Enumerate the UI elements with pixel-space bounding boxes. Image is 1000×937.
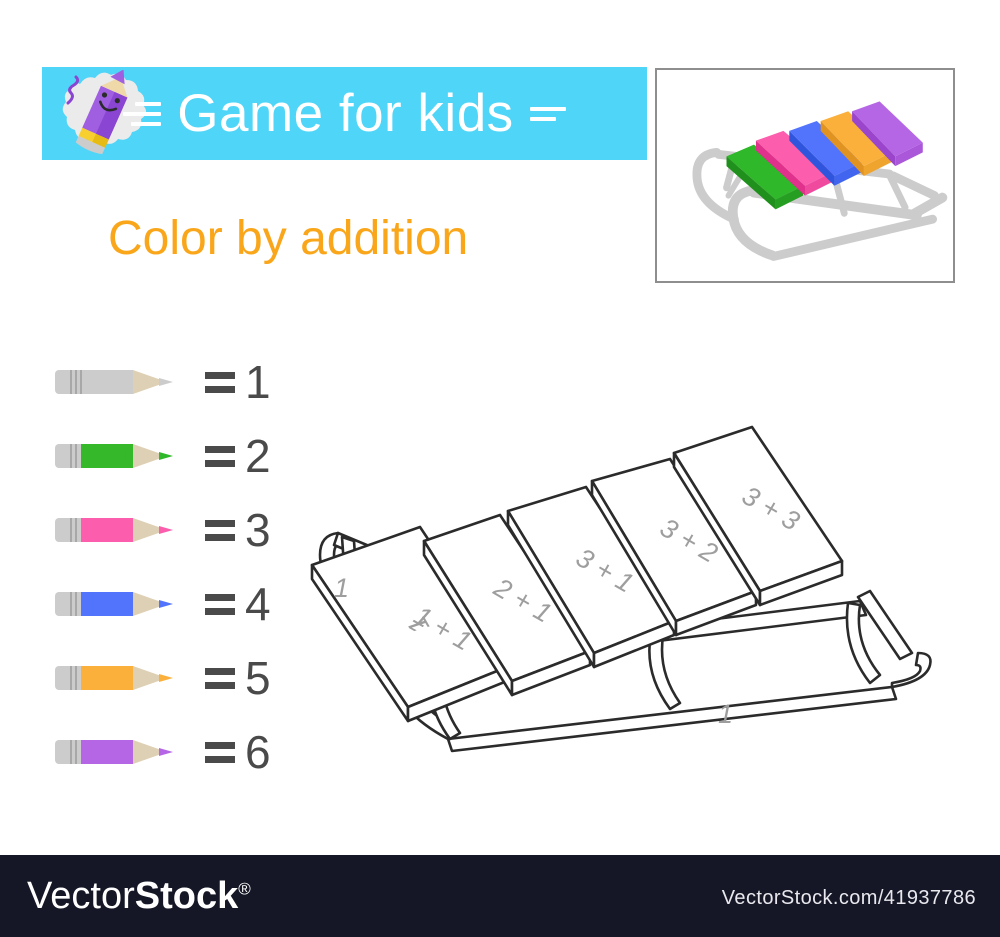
pencil-pink-icon: [55, 510, 183, 550]
legend-item: 2: [55, 419, 271, 493]
legend-equals-group: 5: [205, 655, 271, 701]
legend-equals-group: 1: [205, 359, 271, 405]
pencil-gray-icon: [55, 362, 183, 402]
legend-equals-group: 3: [205, 507, 271, 553]
watermark-footer: VectorStock® VectorStock.com/41937786: [0, 855, 1000, 937]
pencil-purple-icon: [55, 732, 183, 772]
legend-value: 4: [245, 581, 271, 627]
pencil-green-icon: [55, 436, 183, 476]
legend-item: 3: [55, 493, 271, 567]
legend-item: 5: [55, 641, 271, 715]
equals-icon: [205, 594, 235, 615]
legend-value: 3: [245, 507, 271, 553]
sled-coloring-outline: 1 + 1 2 + 1 3 + 1 3 + 2 3 + 3 1 1 1: [300, 405, 970, 800]
equals-icon: [205, 668, 235, 689]
legend-equals-group: 2: [205, 433, 271, 479]
speed-lines-icon: [530, 107, 566, 121]
legend-value: 2: [245, 433, 271, 479]
worksheet-page: Game for kids Color by addition: [0, 0, 1000, 937]
legend-item: 4: [55, 567, 271, 641]
logo-light-text: Vector: [27, 875, 135, 917]
legend-value: 6: [245, 729, 271, 775]
registered-mark-icon: ®: [238, 879, 251, 898]
logo-bold-text: Stock: [135, 875, 238, 917]
page-subtitle: Color by addition: [108, 215, 468, 263]
watermark-url: VectorStock.com/41937786: [722, 887, 976, 910]
equals-icon: [205, 372, 235, 393]
equals-icon: [205, 446, 235, 467]
frame-label: 1: [718, 699, 733, 729]
pencil-color-key: 1 2: [55, 345, 271, 789]
pencil-blue-icon: [55, 584, 183, 624]
colored-sled-reference: [655, 68, 955, 283]
legend-item: 6: [55, 715, 271, 789]
banner-title-row: Game for kids: [42, 67, 647, 160]
page-title: Game for kids: [177, 87, 513, 140]
speed-lines-icon: [123, 102, 161, 126]
pencil-orange-icon: [55, 658, 183, 698]
title-banner: Game for kids: [42, 67, 647, 160]
equals-icon: [205, 742, 235, 763]
legend-item: 1: [55, 345, 271, 419]
equals-icon: [205, 520, 235, 541]
legend-equals-group: 6: [205, 729, 271, 775]
vectorstock-logo: VectorStock®: [27, 877, 251, 915]
frame-label: 1: [334, 573, 349, 603]
legend-equals-group: 4: [205, 581, 271, 627]
legend-value: 1: [245, 359, 271, 405]
legend-value: 5: [245, 655, 271, 701]
